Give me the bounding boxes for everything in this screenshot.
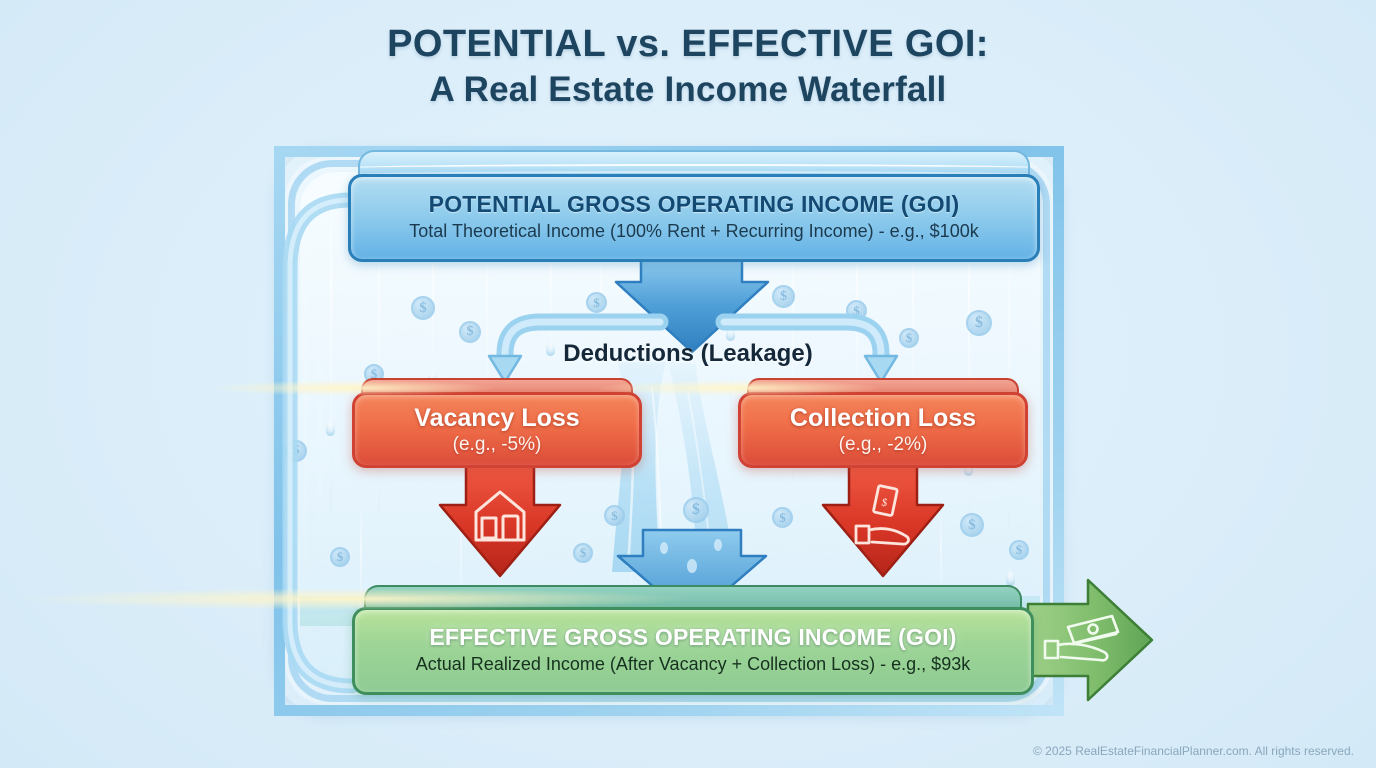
coin-icon: $ (330, 547, 350, 567)
coin-icon: $ (586, 292, 607, 313)
footer-copyright: © 2025 RealEstateFinancialPlanner.com. A… (1033, 744, 1354, 758)
title-line-1: POTENTIAL vs. EFFECTIVE GOI: (0, 22, 1376, 67)
potential-goi-subtext: Total Theoretical Income (100% Rent + Re… (409, 221, 978, 242)
effective-goi-subtext: Actual Realized Income (After Vacancy + … (416, 654, 970, 675)
effective-goi-box: EFFECTIVE GROSS OPERATING INCOME (GOI) A… (352, 585, 1034, 695)
collection-loss-box: Collection Loss (e.g., -2%) (738, 378, 1028, 468)
vacancy-loss-box: Vacancy Loss (e.g., -5%) (352, 378, 642, 468)
collection-loss-body: Collection Loss (e.g., -2%) (738, 392, 1028, 468)
coin-icon: $ (960, 513, 984, 537)
coin-icon: $ (772, 285, 795, 308)
vacancy-loss-body: Vacancy Loss (e.g., -5%) (352, 392, 642, 468)
coin-icon: $ (573, 543, 593, 563)
effective-goi-body: EFFECTIVE GROSS OPERATING INCOME (GOI) A… (352, 607, 1034, 695)
coin-icon: $ (683, 497, 709, 523)
water-drop (726, 327, 735, 341)
potential-goi-box: POTENTIAL GROSS OPERATING INCOME (GOI) T… (348, 150, 1040, 262)
pipe-streak (292, 200, 297, 620)
potential-goi-heading: POTENTIAL GROSS OPERATING INCOME (GOI) (429, 191, 960, 218)
title-line-2: A Real Estate Income Waterfall (0, 67, 1376, 113)
coin-icon: $ (966, 310, 992, 336)
coin-icon: $ (285, 440, 307, 462)
collection-loss-title: Collection Loss (790, 404, 976, 433)
coin-icon: $ (604, 505, 625, 526)
deductions-label: Deductions (Leakage) (0, 340, 1376, 368)
collection-loss-subtext: (e.g., -2%) (839, 434, 928, 456)
effective-goi-heading: EFFECTIVE GROSS OPERATING INCOME (GOI) (429, 624, 956, 651)
water-drop (326, 422, 335, 436)
vacancy-loss-subtext: (e.g., -5%) (453, 434, 542, 456)
potential-goi-body: POTENTIAL GROSS OPERATING INCOME (GOI) T… (348, 174, 1040, 262)
coin-icon: $ (772, 507, 793, 528)
page-title: POTENTIAL vs. EFFECTIVE GOI: A Real Esta… (0, 22, 1376, 112)
coin-icon: $ (1009, 540, 1029, 560)
vacancy-loss-title: Vacancy Loss (414, 404, 579, 433)
water-drop (1006, 572, 1015, 586)
coin-icon: $ (411, 296, 435, 320)
coin-icon: $ (846, 300, 867, 321)
